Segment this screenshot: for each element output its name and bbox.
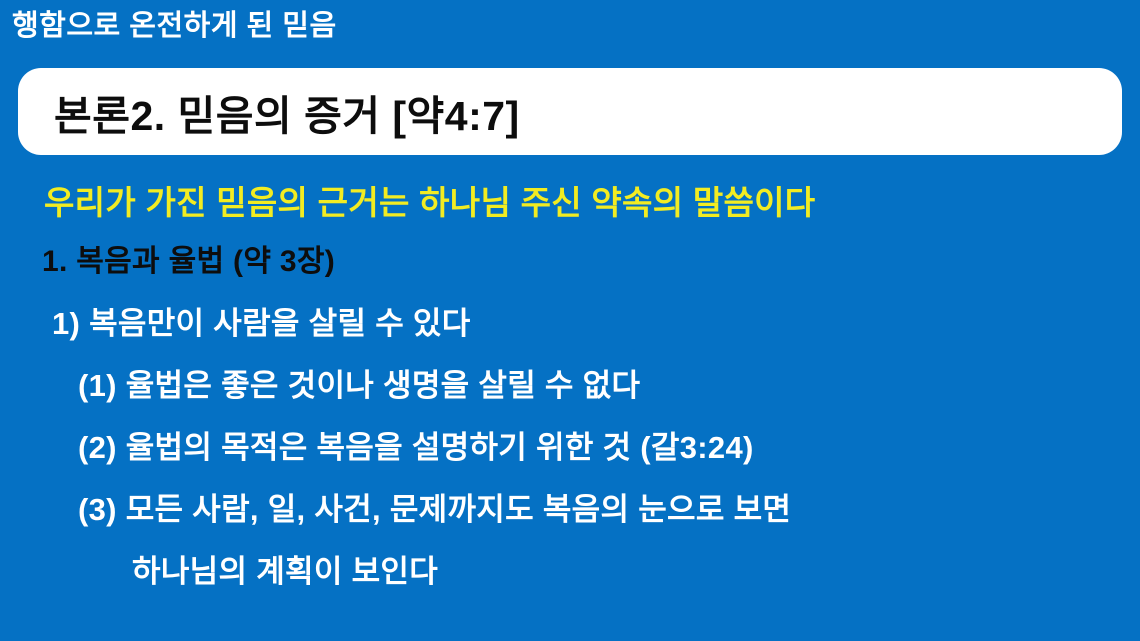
slide-title: 본론2. 믿음의 증거 [약4:7] [54, 82, 520, 142]
slide-body: 우리가 가진 믿음의 근거는 하나님 주신 약속의 말씀이다 1. 복음과 율법… [0, 168, 1140, 641]
title-plate: 본론2. 믿음의 증거 [약4:7] [18, 68, 1122, 155]
slide-running-header: 행함으로 온전하게 된 믿음 [12, 6, 1012, 50]
presentation-slide: 행함으로 온전하게 된 믿음 본론2. 믿음의 증거 [약4:7] 우리가 가진… [0, 0, 1140, 641]
outline-item-2: (2) 율법의 목적은 복음을 설명하기 위한 것 (갈3:24) [78, 422, 754, 467]
outline-subpoint-1: 1) 복음만이 사람을 살릴 수 있다 [52, 298, 471, 343]
accent-heading: 우리가 가진 믿음의 근거는 하나님 주신 약속의 말씀이다 [44, 176, 815, 224]
outline-point-1: 1. 복음과 율법 (약 3장) [42, 236, 335, 280]
outline-item-3-continuation: 하나님의 계획이 보인다 [132, 546, 438, 591]
outline-item-3: (3) 모든 사람, 일, 사건, 문제까지도 복음의 눈으로 보면 [78, 484, 791, 529]
outline-item-1: (1) 율법은 좋은 것이나 생명을 살릴 수 없다 [78, 360, 640, 405]
